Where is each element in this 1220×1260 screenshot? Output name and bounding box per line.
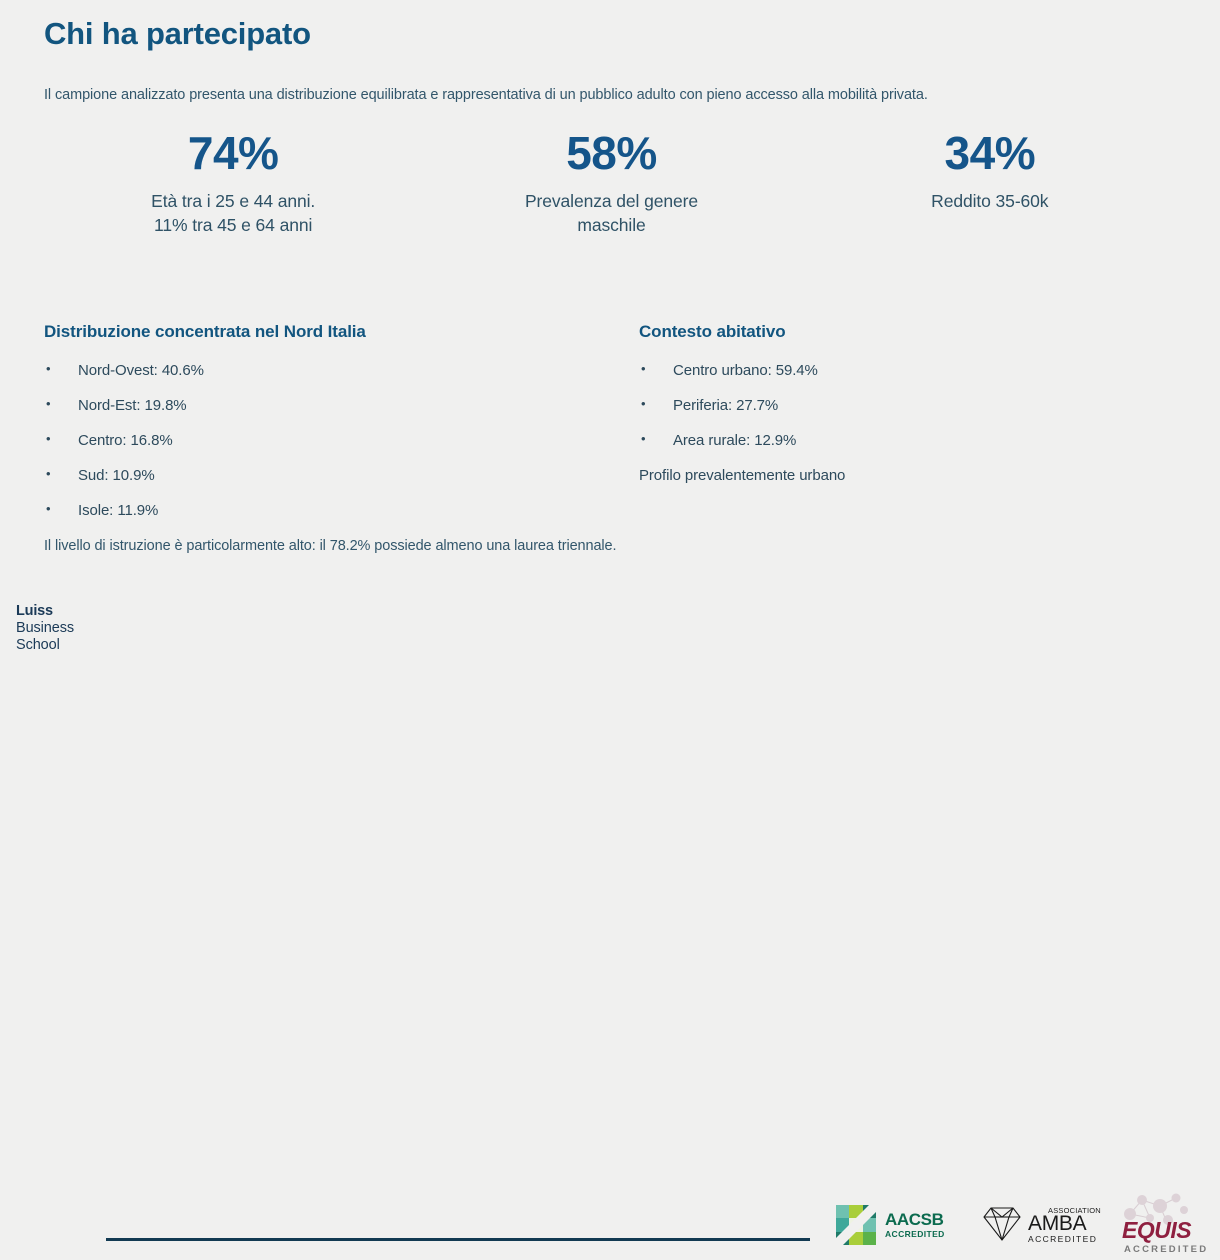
list-item: Centro urbano: 59.4%	[639, 362, 1159, 379]
luiss-business-school-logo: Luiss Business School	[16, 603, 74, 654]
stat-label: Età tra i 25 e 44 anni. 11% tra 45 e 64 …	[44, 190, 422, 237]
column-housing-context: Contesto abitativo Centro urbano: 59.4% …	[639, 322, 1159, 537]
stats-row: 74% Età tra i 25 e 44 anni. 11% tra 45 e…	[44, 126, 1179, 238]
list-item: Sud: 10.9%	[44, 467, 639, 484]
footer-divider-rule	[106, 1238, 810, 1241]
amba-logo-text: ASSOCIATION AMBA ACCREDITED	[1028, 1207, 1097, 1244]
aacsb-logo-icon	[836, 1205, 876, 1245]
list-item: Nord-Est: 19.8%	[44, 397, 639, 414]
bullet-list-regions: Nord-Ovest: 40.6% Nord-Est: 19.8% Centro…	[44, 362, 639, 519]
brand-line-1: Luiss	[16, 603, 74, 620]
stat-label-line2: 11% tra 45 e 64 anni	[44, 214, 422, 238]
list-item: Nord-Ovest: 40.6%	[44, 362, 639, 379]
stat-card-income: 34% Reddito 35-60k	[801, 126, 1179, 214]
amba-accredited: ACCREDITED	[1028, 1235, 1097, 1244]
list-item: Isole: 11.9%	[44, 502, 639, 519]
equis-accredited: ACCREDITED	[1124, 1245, 1208, 1255]
brand-line-2: Business	[16, 620, 74, 637]
content-columns: Distribuzione concentrata nel Nord Itali…	[44, 322, 1184, 537]
stat-label-line2: maschile	[422, 214, 800, 238]
stat-value: 58%	[422, 126, 800, 180]
aacsb-accredited: ACCREDITED	[885, 1230, 945, 1239]
accreditation-badges: AACSB ACCREDITED	[830, 1190, 1220, 1260]
stat-value: 34%	[801, 126, 1179, 180]
stat-label: Reddito 35-60k	[801, 190, 1179, 214]
stat-label-line1: Età tra i 25 e 44 anni.	[151, 191, 315, 211]
equis-name: EQUIS	[1122, 1219, 1208, 1242]
bullet-list-housing: Centro urbano: 59.4% Periferia: 27.7% Ar…	[639, 362, 1159, 449]
stat-card-gender: 58% Prevalenza del genere maschile	[422, 126, 800, 238]
slide-root: Chi ha partecipato Il campione analizzat…	[0, 0, 1220, 679]
list-item: Centro: 16.8%	[44, 432, 639, 449]
equis-badge: EQUIS ACCREDITED	[1118, 1192, 1218, 1256]
column-note: Profilo prevalentemente urbano	[639, 467, 1159, 484]
aacsb-logo-text: AACSB ACCREDITED	[885, 1211, 945, 1239]
stat-label-line1: Prevalenza del genere	[525, 191, 698, 211]
list-item: Area rurale: 12.9%	[639, 432, 1159, 449]
amba-name: AMBA	[1028, 1213, 1097, 1234]
education-footnote: Il livello di istruzione è particolarmen…	[44, 538, 616, 554]
aacsb-badge: AACSB ACCREDITED	[836, 1205, 945, 1245]
amba-diamond-icon	[980, 1204, 1024, 1247]
equis-logo-text: EQUIS ACCREDITED	[1122, 1219, 1208, 1255]
stat-label-line1: Reddito 35-60k	[931, 191, 1048, 211]
column-geographic-distribution: Distribuzione concentrata nel Nord Itali…	[44, 322, 639, 537]
brand-line-3: School	[16, 637, 74, 654]
column-heading: Contesto abitativo	[639, 322, 1159, 342]
page-subtitle: Il campione analizzato presenta una dist…	[44, 87, 928, 103]
slide-footer: Luiss Business School	[0, 590, 1220, 679]
column-heading: Distribuzione concentrata nel Nord Itali…	[44, 322, 639, 342]
aacsb-name: AACSB	[885, 1211, 945, 1228]
stat-value: 74%	[44, 126, 422, 180]
stat-card-age: 74% Età tra i 25 e 44 anni. 11% tra 45 e…	[44, 126, 422, 238]
stat-label: Prevalenza del genere maschile	[422, 190, 800, 237]
page-title: Chi ha partecipato	[44, 16, 311, 52]
list-item: Periferia: 27.7%	[639, 397, 1159, 414]
amba-badge: ASSOCIATION AMBA ACCREDITED	[980, 1204, 1097, 1247]
amba-association: ASSOCIATION	[1048, 1207, 1101, 1215]
